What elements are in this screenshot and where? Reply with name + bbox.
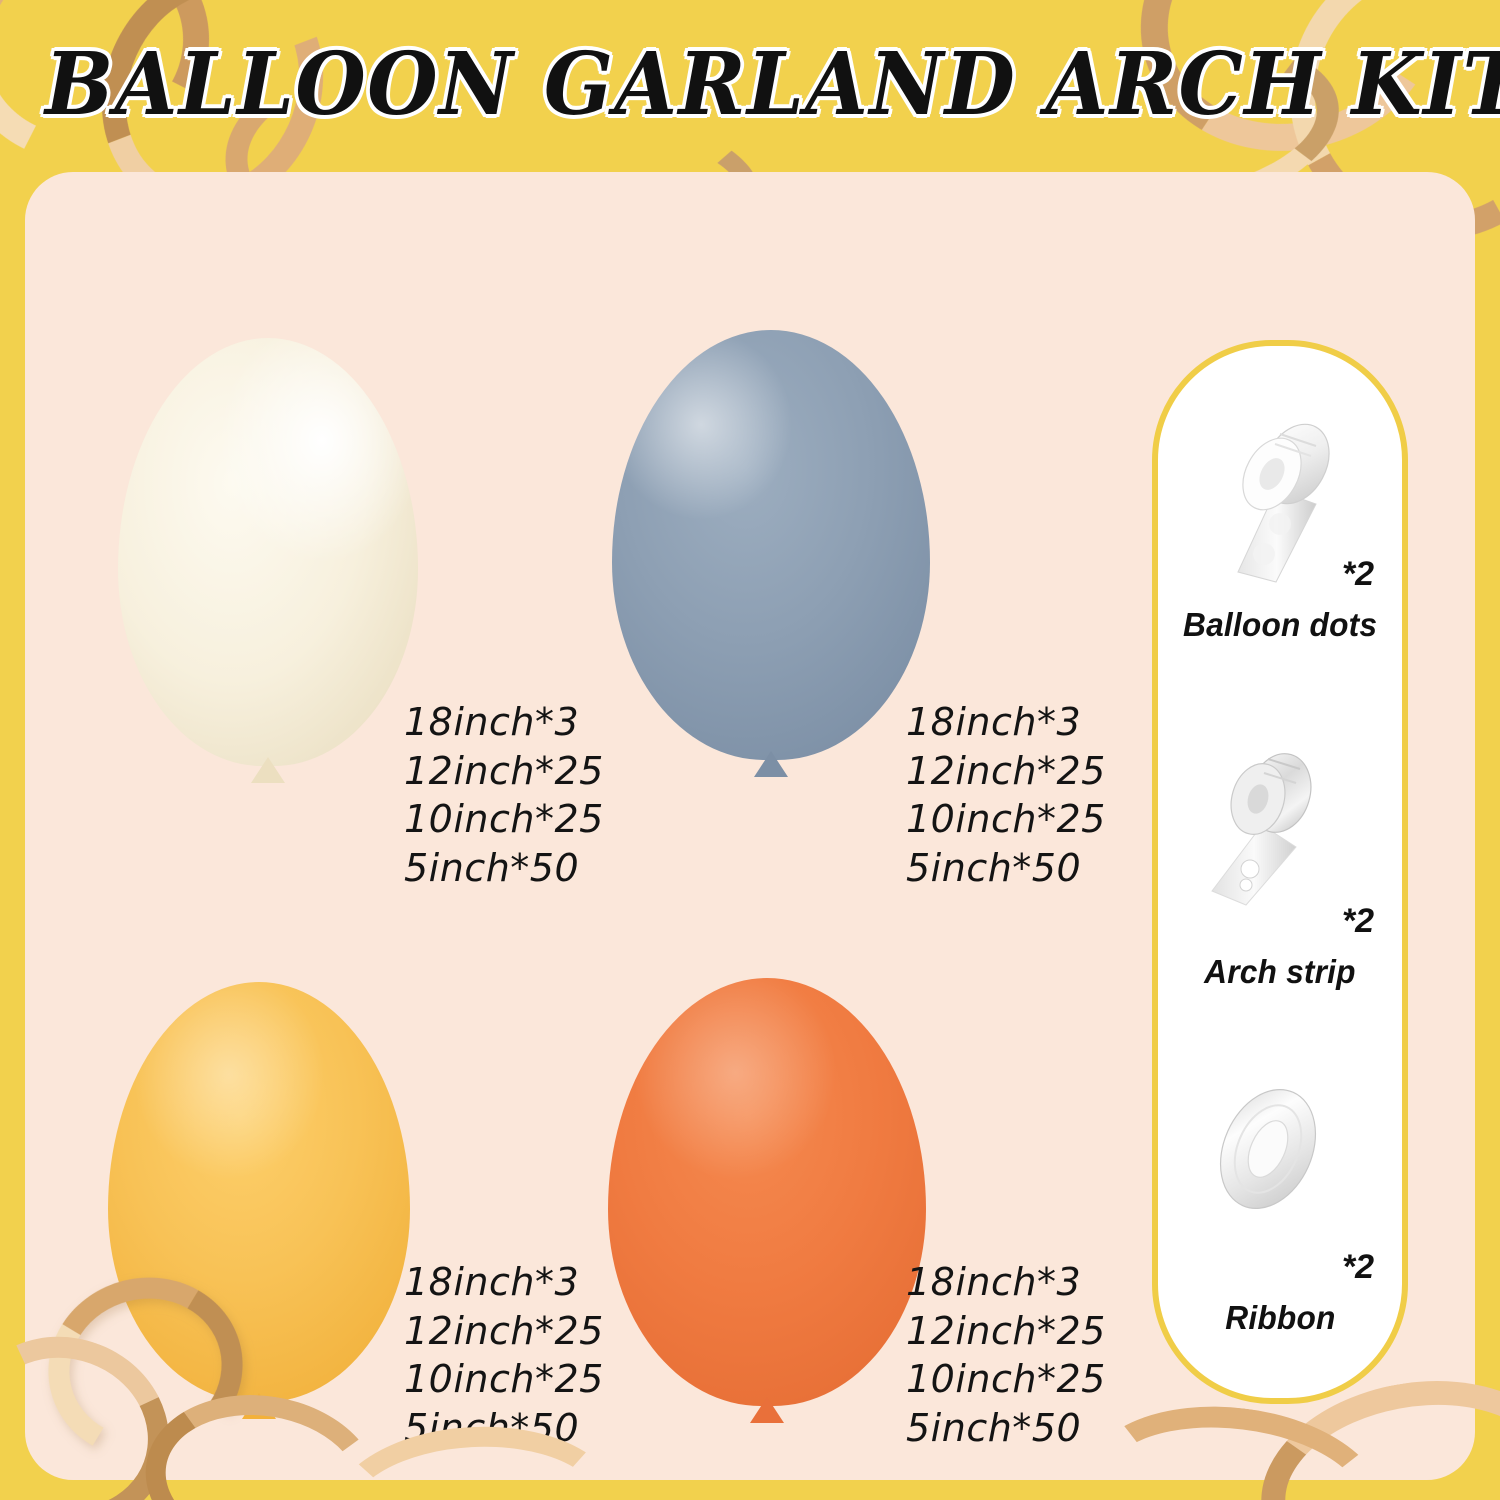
size-line: 12inch*25 <box>906 747 1106 796</box>
accessory-quantity: *2 <box>1342 555 1374 594</box>
size-line: 18inch*3 <box>404 698 604 747</box>
cream-white-size-list: 18inch*3 12inch*25 10inch*25 5inch*50 <box>404 698 604 893</box>
size-line: 18inch*3 <box>906 698 1106 747</box>
balloon-body <box>608 978 926 1406</box>
accessory-name: Balloon dots <box>1183 606 1377 644</box>
accessory-artwork: *2 <box>1158 729 1402 945</box>
accessory-artwork: *2 <box>1158 382 1402 598</box>
balloon-body <box>612 330 930 760</box>
size-line: 18inch*3 <box>404 1258 604 1307</box>
accessory-artwork: *2 <box>1158 1075 1402 1291</box>
infographic-stage: BALLOON GARLAND ARCH KIT CREAM WHITE 18i… <box>0 0 1500 1500</box>
accessory-name: Ribbon <box>1225 1299 1335 1337</box>
dusty-blue-balloon <box>612 330 930 760</box>
accessory-item-arch-strip: *2 Arch strip <box>1158 705 1402 1052</box>
size-line: 10inch*25 <box>906 1355 1106 1404</box>
mustard-yellow-size-list: 18inch*3 12inch*25 10inch*25 5inch*50 <box>404 1258 604 1453</box>
accessory-quantity: *2 <box>1342 1248 1374 1287</box>
accessory-item-ribbon: *2 Ribbon <box>1158 1051 1402 1398</box>
balloon-body <box>118 338 418 766</box>
size-line: 5inch*50 <box>404 1404 604 1453</box>
size-line: 5inch*50 <box>906 844 1106 893</box>
size-line: 5inch*50 <box>906 1404 1106 1453</box>
accessory-item-balloon-dots: *2 Balloon dots <box>1158 346 1402 705</box>
balloon-body <box>108 982 410 1402</box>
size-line: 10inch*25 <box>404 795 604 844</box>
page-title: BALLOON GARLAND ARCH KIT <box>45 34 1455 135</box>
size-line: 5inch*50 <box>404 844 604 893</box>
mustard-yellow-balloon <box>108 982 410 1402</box>
burnt-orange-size-list: 18inch*3 12inch*25 10inch*25 5inch*50 <box>906 1258 1106 1453</box>
accessory-quantity: *2 <box>1342 902 1374 941</box>
size-line: 12inch*25 <box>906 1307 1106 1356</box>
burnt-orange-balloon <box>608 978 926 1406</box>
size-line: 10inch*25 <box>906 795 1106 844</box>
accessories-panel: *2 Balloon dots <box>1152 340 1408 1404</box>
cream-white-balloon <box>118 338 418 766</box>
dusty-blue-size-list: 18inch*3 12inch*25 10inch*25 5inch*50 <box>906 698 1106 893</box>
size-line: 10inch*25 <box>404 1355 604 1404</box>
size-line: 18inch*3 <box>906 1258 1106 1307</box>
size-line: 12inch*25 <box>404 1307 604 1356</box>
accessory-name: Arch strip <box>1204 953 1356 991</box>
size-line: 12inch*25 <box>404 747 604 796</box>
